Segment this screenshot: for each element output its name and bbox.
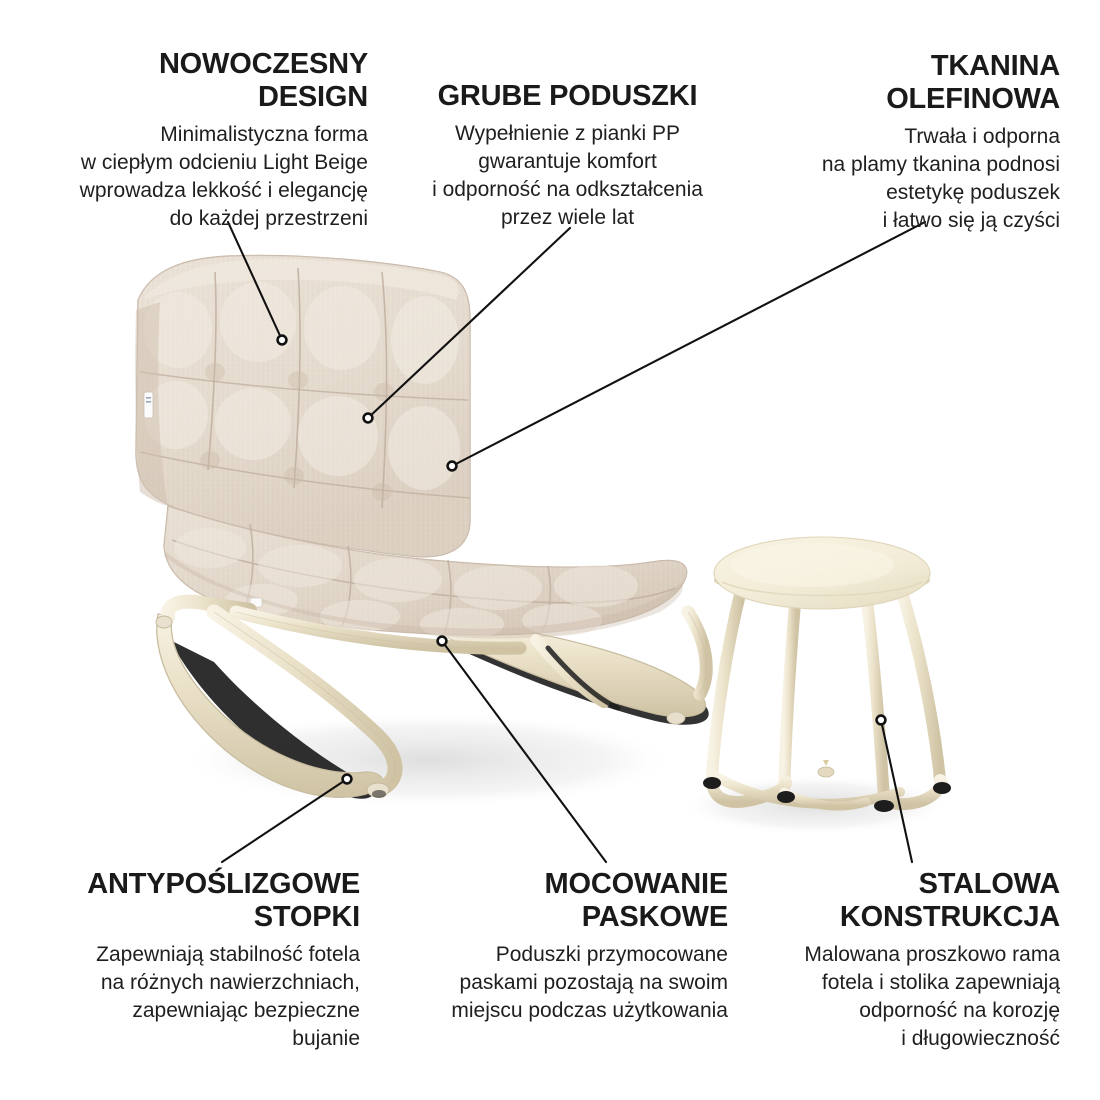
feature-antyposlizgowe-stopki: ANTYPOŚLIZGOWE STOPKI Zapewniają stabiln… [40, 868, 360, 1053]
leader-line-tkanina-olefinowa [452, 222, 925, 466]
feature-title: NOWOCZESNY DESIGN [8, 48, 368, 114]
feature-body: Poduszki przymocowane paskami pozostają … [398, 941, 728, 1025]
feature-stalowa-konstrukcja: STALOWA KONSTRUKCJA Malowana proszkowo r… [748, 868, 1060, 1053]
table-top [714, 537, 930, 609]
feature-body: Zapewniają stabilność fotela na różnych … [40, 941, 360, 1053]
feature-title: STALOWA KONSTRUKCJA [748, 868, 1060, 934]
feature-body: Minimalistyczna forma w ciepłym odcieniu… [8, 121, 368, 233]
feature-body: Trwała i odporna na plamy tkanina podnos… [760, 123, 1060, 235]
feature-title: TKANINA OLEFINOWA [760, 50, 1060, 116]
feature-body: Malowana proszkowo rama fotela i stolika… [748, 941, 1060, 1053]
feature-mocowanie-paskowe: MOCOWANIE PASKOWE Poduszki przymocowane … [398, 868, 728, 1025]
feature-body: Wypełnienie z pianki PP gwarantuje komfo… [395, 120, 740, 232]
leader-dot-nowoczesny-design [278, 336, 287, 345]
feature-tkanina-olefinowa: TKANINA OLEFINOWA Trwała i odporna na pl… [760, 50, 1060, 235]
leader-dot-stalowa-konstrukcja [877, 716, 886, 725]
feature-title: GRUBE PODUSZKI [395, 80, 740, 113]
leader-dot-mocowanie-paskowe [438, 637, 447, 646]
feature-nowoczesny-design: NOWOCZESNY DESIGN Minimalistyczna forma … [8, 48, 368, 233]
feature-title: MOCOWANIE PASKOWE [398, 868, 728, 934]
leader-dot-antyposlizgowe-stopki [343, 775, 352, 784]
infographic-page: NOWOCZESNY DESIGN Minimalistyczna forma … [0, 0, 1100, 1100]
leader-dot-grube-poduszki [364, 414, 373, 423]
leader-dot-tkanina-olefinowa [448, 462, 457, 471]
feature-title: ANTYPOŚLIZGOWE STOPKI [40, 868, 360, 934]
side-table [703, 537, 951, 812]
brand-tag [144, 392, 153, 418]
feature-grube-poduszki: GRUBE PODUSZKI Wypełnienie z pianki PP g… [395, 80, 740, 232]
